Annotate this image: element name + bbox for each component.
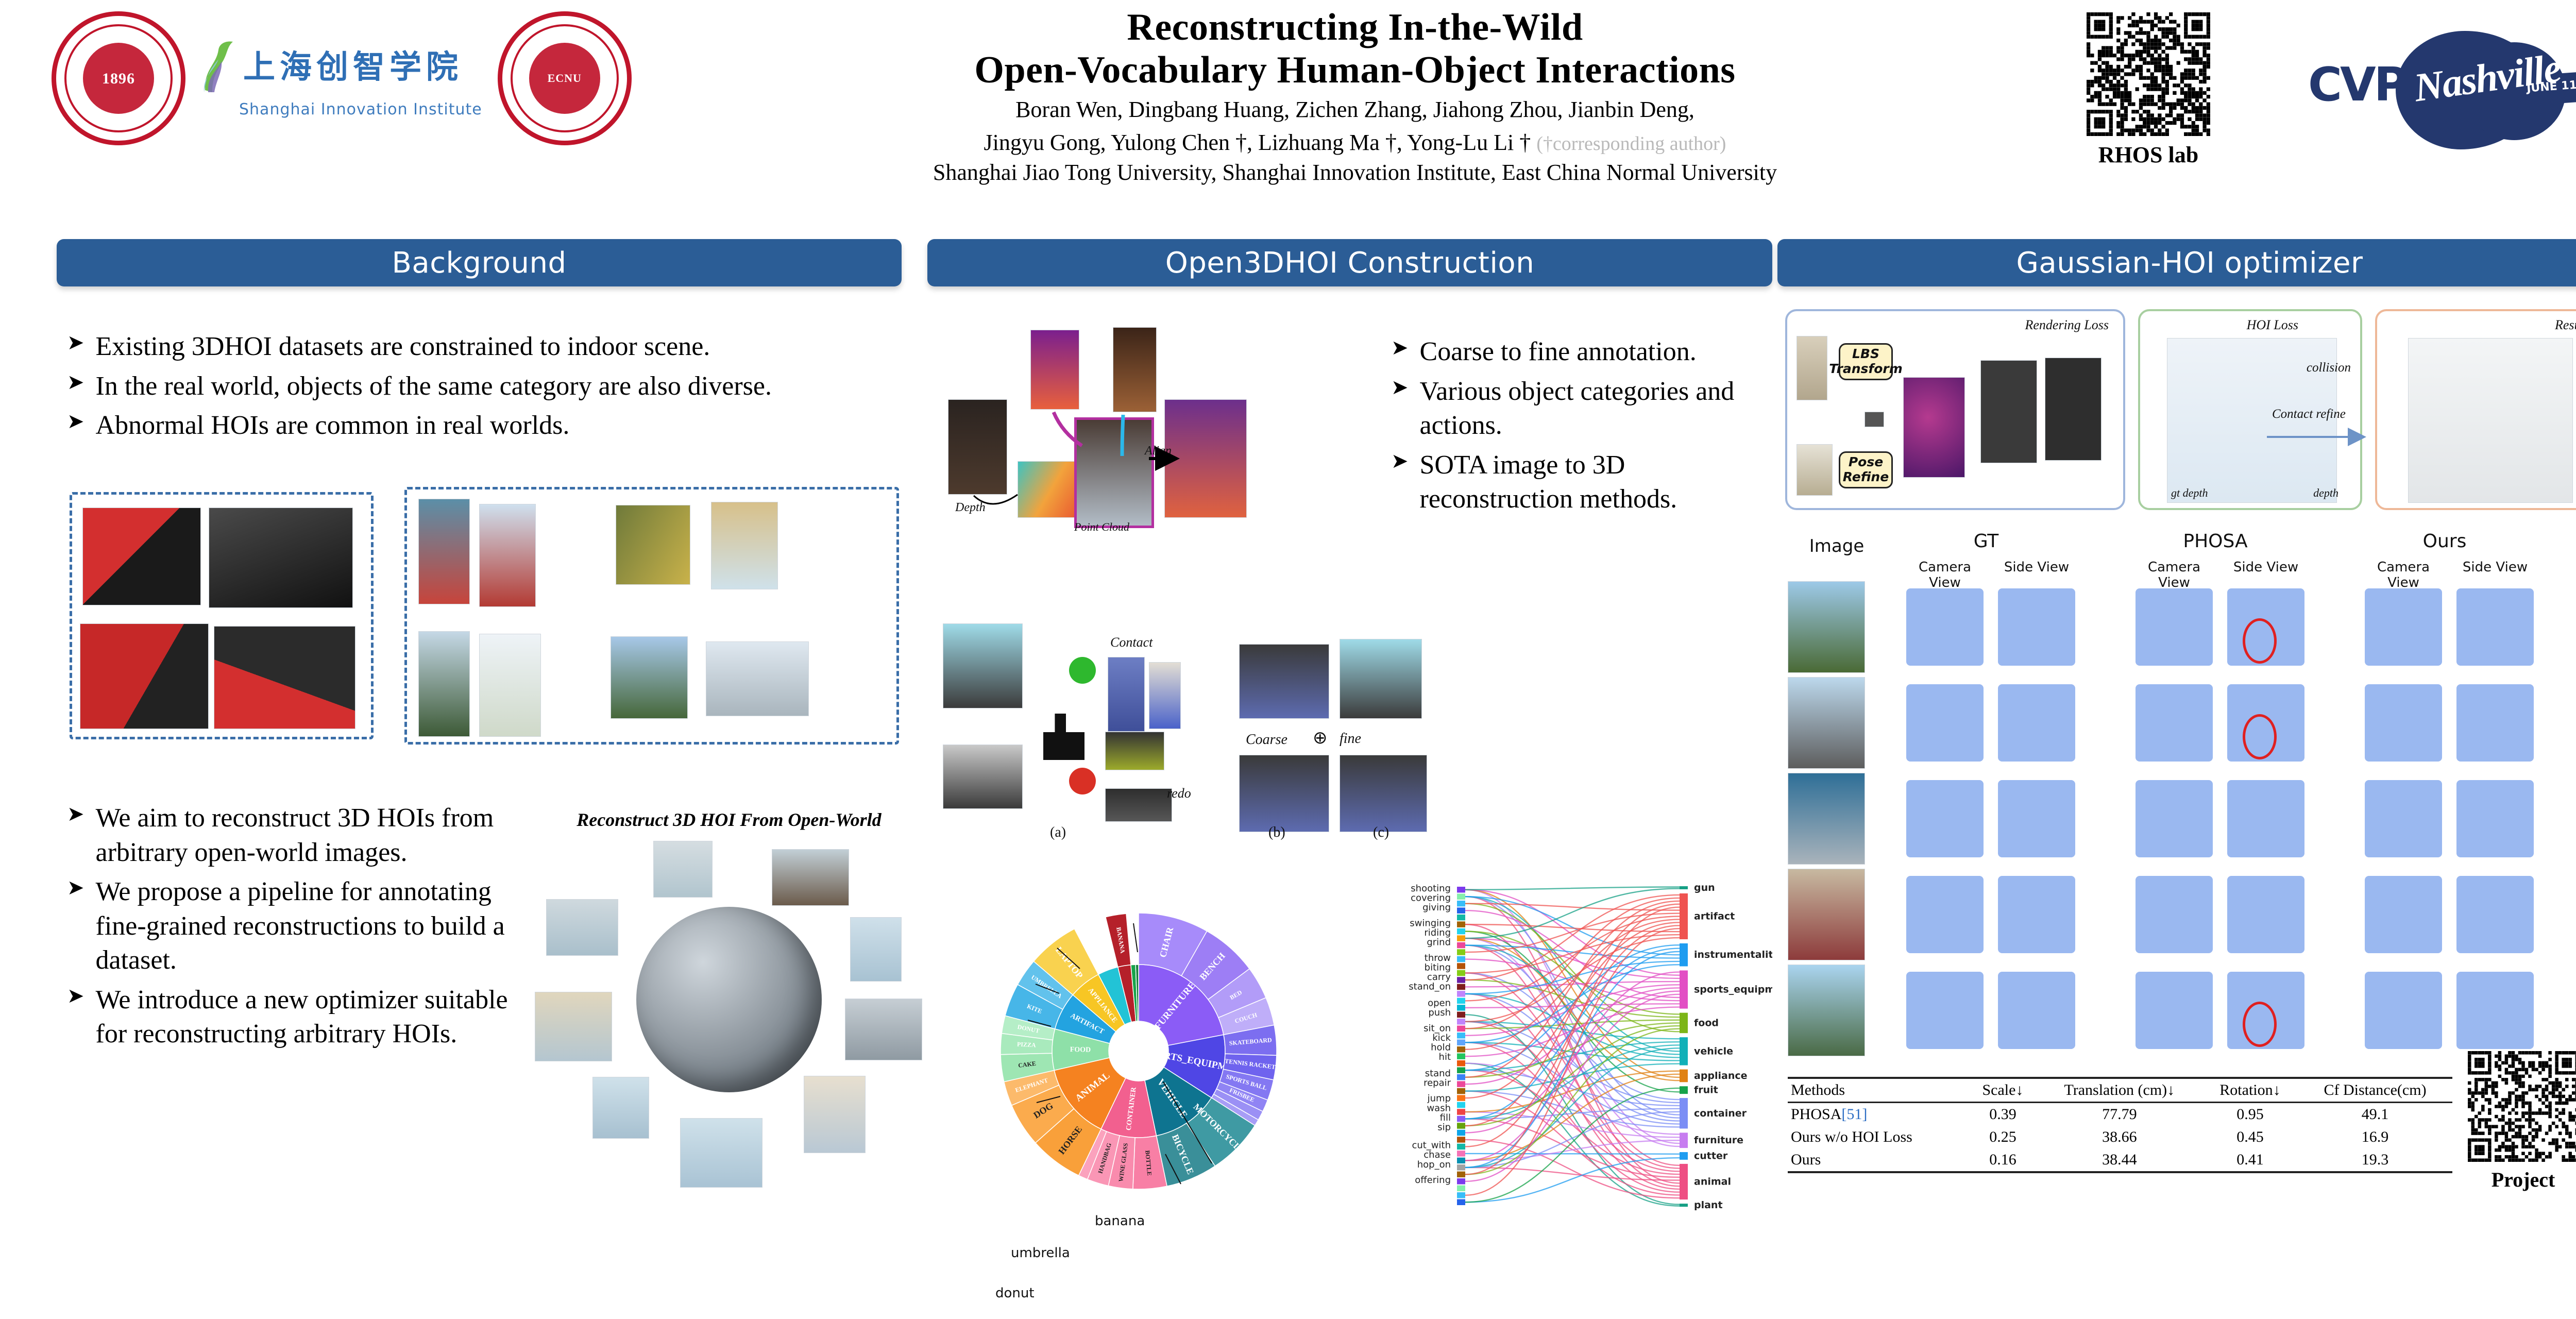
sankey-left-node: [1457, 1019, 1465, 1024]
cell-method: Ours: [1788, 1148, 1969, 1172]
error-highlight-circle: [2243, 714, 2277, 759]
qualitative-mesh-render: [1998, 588, 2075, 666]
col-rotation: Rotation↓: [2202, 1078, 2298, 1103]
sankey-left-node: [1457, 1178, 1465, 1184]
result-panel: Result: [2375, 309, 2576, 510]
cell-rotation: 0.41: [2202, 1148, 2298, 1172]
sankey-left-node: [1457, 1067, 1465, 1073]
section-header-background-label: Background: [392, 246, 566, 280]
globe-figure-caption: Reconstruct 3D HOI From Open-World: [531, 809, 927, 831]
sankey-left-node: [1457, 907, 1465, 913]
sankey-left-node: [1457, 901, 1465, 906]
sankey-left-node: [1457, 956, 1465, 962]
affiliations: Shanghai Jiao Tong University, Shanghai …: [737, 158, 1973, 187]
table-row: PHOSA[51]0.3977.790.9549.1: [1788, 1103, 2452, 1126]
sii-english-name: Shanghai Innovation Institute: [239, 100, 482, 119]
table-row: Ours w/o HOI Loss0.2538.660.4516.9: [1788, 1126, 2452, 1148]
sankey-left-node: [1457, 921, 1465, 927]
motorcycle-image-1: [82, 508, 201, 605]
bullet-text: Coarse to fine annotation.: [1420, 335, 1697, 369]
result-title: Result: [2555, 317, 2576, 333]
sankey-left-node: [1457, 977, 1465, 983]
poster-title-line-2: Open-Vocabulary Human-Object Interaction…: [737, 49, 1973, 92]
cell-cf-distance: 16.9: [2298, 1126, 2452, 1148]
sankey-right-node: [1680, 943, 1688, 966]
sankey-right-label: vehicle: [1694, 1045, 1733, 1057]
list-item: ➤We propose a pipeline for annotating fi…: [67, 875, 520, 978]
sankey-left-node: [1457, 1074, 1465, 1080]
bullet-text: SOTA image to 3D reconstruction methods.: [1420, 448, 1762, 517]
annotation-input-image: [943, 623, 1023, 708]
poster-header: 1896 上海创智学院 Shanghai Innovation Institut…: [0, 0, 2576, 234]
sankey-link: [1465, 1140, 1680, 1160]
sankey-link: [1465, 924, 1680, 932]
results-table-element: Methods Scale↓ Translation (cm)↓ Rotatio…: [1788, 1077, 2452, 1173]
cell-scale: 0.25: [1969, 1126, 2037, 1148]
align-arrows: [943, 309, 1391, 541]
hoi-mesh-boxes: [804, 1076, 866, 1153]
qualitative-mesh-render: [2136, 588, 2213, 666]
qualitative-mesh-render: [1998, 876, 2075, 953]
qualitative-mesh-render: [2136, 972, 2213, 1049]
sankey-right-node: [1680, 1070, 1688, 1083]
qualitative-mesh-render: [1998, 684, 2075, 762]
motorcycle-image-4: [214, 626, 355, 729]
qual-subheader-gt-side: Side View: [1993, 560, 2080, 575]
bullet-text: Abnormal HOIs are common in real worlds.: [96, 409, 570, 443]
qualitative-input-image: [1788, 869, 1865, 960]
qualitative-mesh-render: [1906, 972, 1984, 1049]
template-human-mesh: [1797, 336, 1827, 400]
project-qr-code[interactable]: [2468, 1051, 2576, 1162]
col-cf-distance: Cf Distance(cm): [2298, 1078, 2452, 1103]
open3dhoi-bullet-list: ➤Coarse to fine annotation. ➤Various obj…: [1391, 335, 1762, 522]
authors-line-2-text: Jingyu Gong, Yulong Chen †, Lizhuang Ma …: [984, 130, 1531, 155]
section-header-gaussian: Gaussian-HOI optimizer: [1777, 239, 2576, 286]
sankey-right-label: food: [1694, 1017, 1719, 1028]
qualitative-mesh-render: [2365, 780, 2442, 857]
qualitative-mesh-render: [1998, 780, 2075, 857]
table-header-row: Methods Scale↓ Translation (cm)↓ Rotatio…: [1788, 1078, 2452, 1103]
col-scale: Scale↓: [1969, 1078, 2037, 1103]
sankey-right-label: fruit: [1694, 1085, 1718, 1096]
poster-title-line-1: Reconstructing In-the-Wild: [737, 6, 1973, 49]
sankey-left-node: [1457, 1158, 1465, 1163]
qual-subheader-ours-side: Side View: [2451, 560, 2539, 575]
qual-header-gt: GT: [1901, 531, 2071, 552]
hoi-mesh-rocking-chair: [535, 992, 612, 1061]
sankey-left-node: [1457, 935, 1465, 941]
bullet-arrow-icon: ➤: [1391, 335, 1409, 361]
hoi-mesh-couch: [772, 849, 849, 906]
sankey-left-label: stand_on: [1409, 981, 1451, 992]
object-scan-image: [943, 745, 1023, 809]
col-translation: Translation (cm)↓: [2037, 1078, 2202, 1103]
verb-object-sankey-chart: shootingcoveringgivingswingingridinggrin…: [1391, 876, 1772, 1216]
sankey-right-node: [1680, 886, 1688, 889]
qualitative-mesh-render: [2365, 876, 2442, 953]
sankey-left-node: [1457, 1060, 1465, 1066]
sankey-left-node: [1457, 1172, 1465, 1177]
title-block: Reconstructing In-the-Wild Open-Vocabula…: [737, 6, 1973, 187]
sunburst-callout-line: [1133, 923, 1138, 952]
authors-line-1: Boran Wen, Dingbang Huang, Zichen Zhang,…: [737, 95, 1973, 125]
list-item: ➤In the real world, objects of the same …: [67, 369, 891, 404]
sunburst-callout-label: donut: [995, 1286, 1035, 1301]
sankey-right-label: container: [1694, 1108, 1747, 1119]
sankey-left-node: [1457, 928, 1465, 934]
gt-depth-label: gt depth: [2171, 486, 2208, 500]
sankey-right-label: gun: [1694, 882, 1715, 893]
cell-scale: 0.39: [1969, 1103, 2037, 1126]
project-qr-block[interactable]: Project: [2468, 1051, 2576, 1192]
annotation-pipeline-figure: Contact redo Coarse ⊕ fine (a) (b) (c): [933, 577, 1777, 845]
cell-method: PHOSA[51]: [1788, 1103, 1969, 1126]
qualitative-input-image: [1788, 773, 1865, 865]
qualitative-mesh-render: [1906, 876, 1984, 953]
cell-cf-distance: 49.1: [2298, 1103, 2452, 1126]
sankey-left-node: [1457, 1151, 1465, 1156]
lbs-transform-label: LBS Transform: [1829, 347, 1903, 377]
sankey-left-node: [1457, 1053, 1465, 1059]
pose-refine-box: Pose Refine: [1839, 451, 1893, 488]
section-header-gaussian-label: Gaussian-HOI optimizer: [2016, 246, 2363, 280]
object-contact-mesh: [1105, 732, 1164, 770]
qualitative-mesh-render: [2456, 876, 2534, 953]
globe-figure: Reconstruct 3D HOI From Open-World: [531, 809, 927, 1211]
rendered-rgb-image: [2045, 358, 2102, 461]
sii-chinese-name: 上海创智学院: [243, 51, 463, 83]
bullet-arrow-icon: ➤: [67, 875, 84, 901]
sankey-left-label: grind: [1427, 937, 1451, 948]
sankey-left-node: [1457, 991, 1465, 996]
sankey-svg: shootingcoveringgivingswingingridinggrin…: [1391, 876, 1772, 1216]
cell-rotation: 0.95: [2202, 1103, 2298, 1126]
coarse-hoi-mesh-bottom: [1239, 755, 1329, 832]
logo-row: 1896 上海创智学院 Shanghai Innovation Institut…: [52, 11, 632, 145]
hoi-mesh-cup: [592, 1077, 649, 1139]
sankey-left-node: [1457, 942, 1465, 948]
abnormal-hoi-image-1: [418, 499, 470, 604]
qualitative-results-grid: [1788, 581, 2576, 1060]
rendering-loss-title: Rendering Loss: [2025, 317, 2109, 333]
qual-header-phosa: PHOSA: [2130, 531, 2300, 552]
cell-translation: 38.44: [2037, 1148, 2202, 1172]
sunburst-callout-label: banana: [1095, 1213, 1145, 1229]
accept-check-icon: [1069, 657, 1096, 684]
bullet-text: Various object categories and actions.: [1420, 375, 1762, 443]
col-methods: Methods: [1788, 1078, 1969, 1103]
sankey-left-node: [1457, 1164, 1465, 1170]
sankey-left-node: [1457, 984, 1465, 990]
sankey-left-node: [1457, 1123, 1465, 1128]
sankey-right-node: [1680, 1164, 1688, 1199]
rhos-lab-qr-label: RHOS lab: [2087, 142, 2210, 168]
qualitative-mesh-render: [2136, 684, 2213, 762]
sankey-left-node: [1457, 1144, 1465, 1149]
qualitative-mesh-render: [2136, 876, 2213, 953]
sankey-left-node: [1457, 1186, 1465, 1191]
rendered-depth-image: [1980, 360, 2037, 463]
sankey-right-label: animal: [1694, 1176, 1731, 1188]
contact-label: Contact: [1110, 635, 1153, 650]
sankey-link: [1465, 887, 1680, 890]
fine-input-image: [1340, 639, 1422, 719]
lbs-transform-box: LBS Transform: [1839, 343, 1893, 380]
section-header-open3dhoi-label: Open3DHOI Construction: [1165, 246, 1534, 280]
cvpr-logo: CVPR Nashville JUNE 11-15, 2025: [2308, 31, 2576, 149]
sankey-left-node: [1457, 1102, 1465, 1108]
qualitative-mesh-render: [2456, 588, 2534, 666]
cell-translation: 38.66: [2037, 1126, 2202, 1148]
contact-human-mesh: [1108, 657, 1145, 732]
cell-method: Ours w/o HOI Loss: [1788, 1126, 1969, 1148]
qualitative-mesh-render: [2456, 780, 2534, 857]
sankey-left-label: sip: [1437, 1122, 1451, 1132]
contact-refine-arrow: [2267, 428, 2370, 448]
hoi-mesh-dog: [653, 841, 713, 898]
error-highlight-circle: [2243, 618, 2277, 664]
results-table-head: Methods Scale↓ Translation (cm)↓ Rotatio…: [1788, 1078, 2452, 1103]
sankey-left-node: [1457, 1040, 1465, 1045]
sankey-right-node: [1680, 1098, 1688, 1128]
bullet-arrow-icon: ➤: [67, 409, 84, 434]
sankey-left-label: offering: [1415, 1175, 1451, 1186]
abnormal-hoi-image-2: [616, 505, 690, 585]
sankey-right-label: plant: [1694, 1199, 1723, 1211]
sjtu-logo: 1896: [52, 11, 185, 145]
motorcycle-image-3: [80, 623, 209, 729]
sankey-left-node: [1457, 963, 1465, 969]
section-header-background: Background: [57, 239, 902, 286]
result-render: [2408, 338, 2573, 503]
quantitative-results-table: Methods Scale↓ Translation (cm)↓ Rotatio…: [1788, 1077, 2452, 1173]
subfigure-label-c: (c): [1373, 824, 1389, 841]
abnormal-hoi-panel: [404, 487, 899, 745]
object-redo-mesh: [1105, 788, 1172, 822]
sankey-left-node: [1457, 1130, 1465, 1136]
shanghai-innovation-institute-logo: 上海创智学院 Shanghai Innovation Institute: [201, 39, 482, 119]
contact-refine-label: Contact refine: [2272, 407, 2346, 421]
abnormal-hoi-mesh-3: [479, 634, 541, 737]
authors-line-2: Jingyu Gong, Yulong Chen †, Lizhuang Ma …: [737, 128, 1973, 158]
bullet-arrow-icon: ➤: [67, 330, 84, 356]
contact-map-mesh: [1149, 662, 1181, 729]
sankey-left-label: repair: [1423, 1077, 1451, 1088]
qualitative-mesh-render: [2227, 780, 2304, 857]
qual-header-ours: Ours: [2360, 531, 2530, 552]
sankey-link: [1465, 1140, 1680, 1198]
bullet-arrow-icon: ➤: [67, 801, 84, 827]
bullet-arrow-icon: ➤: [67, 983, 84, 1009]
sankey-left-node: [1457, 893, 1465, 899]
sankey-left-node: [1457, 1199, 1465, 1205]
bullet-arrow-icon: ➤: [1391, 375, 1409, 400]
template-sheep-mesh: [1797, 444, 1833, 496]
sankey-right-label: cutter: [1694, 1150, 1728, 1161]
align-pipeline-figure: Depth Point Cloud Align: [943, 309, 1391, 541]
sankey-left-label: hop_on: [1417, 1159, 1451, 1170]
ecnu-logo-text: ECNU: [502, 16, 627, 141]
list-item: ➤Abnormal HOIs are common in real worlds…: [67, 409, 891, 443]
bullet-arrow-icon: ➤: [1391, 448, 1409, 474]
hoi-mesh-tennis: [680, 1118, 762, 1188]
camera-icon: [1865, 412, 1884, 427]
qualitative-mesh-render: [1906, 780, 1984, 857]
sankey-left-node: [1457, 1081, 1465, 1087]
hoi-mesh-bench: [845, 999, 922, 1060]
reject-cross-icon: [1069, 768, 1096, 794]
sankey-right-label: sports_equipment: [1694, 984, 1772, 995]
cell-cf-distance: 19.3: [2298, 1148, 2452, 1172]
qualitative-mesh-render: [1998, 972, 2075, 1049]
fine-hoi-mesh: [1340, 755, 1427, 832]
sankey-link: [1465, 1154, 1680, 1154]
list-item: ➤Coarse to fine annotation.: [1391, 335, 1762, 369]
sankey-right-node: [1680, 970, 1688, 1008]
sunburst-outer-label: PIZZA: [1017, 1041, 1037, 1049]
motorcycle-image-2: [209, 508, 353, 608]
qualitative-mesh-render: [2365, 588, 2442, 666]
sunburst-inner-label: FOOD: [1070, 1046, 1091, 1054]
qual-header-image: Image: [1788, 536, 1886, 556]
bullet-text: We aim to reconstruct 3D HOIs from arbit…: [96, 801, 520, 870]
sankey-left-node: [1457, 1046, 1465, 1052]
coarse-label: Coarse: [1246, 732, 1287, 748]
sankey-left-node: [1457, 1088, 1465, 1094]
sankey-right-node: [1680, 1152, 1688, 1160]
qualitative-mesh-render: [2365, 684, 2442, 762]
abnormal-hoi-mesh-4: [706, 641, 809, 716]
background-bullet-list: ➤Existing 3DHOI datasets are constrained…: [67, 330, 891, 448]
sankey-right-label: appliance: [1694, 1070, 1748, 1081]
coarse-hoi-mesh-top: [1239, 644, 1329, 719]
abnormal-hoi-mesh-1: [479, 504, 536, 607]
table-row: Ours0.1638.440.4119.3: [1788, 1148, 2452, 1172]
gaussian-point-cloud: [1903, 377, 1965, 478]
sankey-link: [1465, 1074, 1680, 1161]
sankey-right-label: artifact: [1694, 910, 1735, 922]
sankey-right-label: instrumentality: [1694, 949, 1772, 960]
project-qr-label: Project: [2468, 1168, 2576, 1192]
sankey-left-node: [1457, 970, 1465, 976]
abnormal-hoi-image-4: [611, 636, 688, 719]
list-item: ➤We introduce a new optimizer suitable f…: [67, 983, 520, 1052]
sankey-left-node: [1457, 1109, 1465, 1114]
rhos-lab-qr-code[interactable]: [2087, 12, 2210, 136]
cell-translation: 77.79: [2037, 1103, 2202, 1126]
abnormal-hoi-image-3: [418, 631, 470, 737]
cell-rotation: 0.45: [2202, 1126, 2298, 1148]
corresponding-author-note: (†corresponding author): [1536, 133, 1726, 155]
qualitative-input-image: [1788, 965, 1865, 1056]
sankey-right-label: furniture: [1694, 1135, 1743, 1146]
sankey-left-node: [1457, 1026, 1465, 1031]
hoi-loss-title: HOI Loss: [2247, 317, 2298, 333]
sankey-left-node: [1457, 1012, 1465, 1018]
rendering-loss-panel: Rendering Loss LBS Transform Pose Refine: [1785, 309, 2125, 510]
cell-scale: 0.16: [1969, 1148, 2037, 1172]
sankey-left-label: giving: [1422, 902, 1451, 913]
qualitative-mesh-render: [2365, 972, 2442, 1049]
sankey-right-node: [1680, 1132, 1688, 1148]
sankey-right-node: [1680, 893, 1688, 939]
hoi-mesh-horse-rider: [546, 899, 618, 956]
sii-mark-icon: [201, 39, 235, 95]
sankey-left-node: [1457, 1192, 1465, 1198]
bullet-arrow-icon: ➤: [67, 369, 84, 395]
qualitative-mesh-render: [2456, 972, 2534, 1049]
sankey-left-node: [1457, 1005, 1465, 1010]
sunburst-callout-label: umbrella: [1011, 1245, 1070, 1261]
annotator-icon: [1043, 714, 1084, 760]
bullet-text: In the real world, objects of the same c…: [96, 369, 772, 404]
object-diversity-panel: [70, 492, 374, 739]
sankey-left-node: [1457, 998, 1465, 1004]
sunburst-svg: FURNITURESPORTS_EQUIPMENTVEHICLECONTAINE…: [979, 897, 1298, 1206]
citation-link[interactable]: [51]: [1841, 1106, 1867, 1123]
qualitative-input-image: [1788, 677, 1865, 769]
pose-refine-label: Pose Refine: [1843, 455, 1889, 485]
sankey-left-label: hit: [1439, 1052, 1451, 1062]
collision-label: collision: [2307, 361, 2351, 375]
sankey-left-node: [1457, 915, 1465, 920]
bullet-text: Existing 3DHOI datasets are constrained …: [96, 330, 710, 364]
abnormal-hoi-mesh-2: [711, 502, 778, 589]
bullet-text: We introduce a new optimizer suitable fo…: [96, 983, 520, 1052]
list-item: ➤Existing 3DHOI datasets are constrained…: [67, 330, 891, 364]
fine-label: fine: [1340, 731, 1361, 747]
sankey-right-node: [1680, 1204, 1688, 1207]
section-header-open3dhoi: Open3DHOI Construction: [927, 239, 1772, 286]
bullet-text: We propose a pipeline for annotating fin…: [96, 875, 520, 978]
qualitative-mesh-render: [2227, 876, 2304, 953]
qualitative-mesh-render: [1906, 684, 1984, 762]
object-category-sunburst-chart: FURNITURESPORTS_EQUIPMENTVEHICLECONTAINE…: [979, 897, 1298, 1206]
sankey-right-node: [1680, 1086, 1688, 1094]
qualitative-mesh-render: [2456, 684, 2534, 762]
sankey-left-node: [1457, 1095, 1465, 1101]
sankey-left-node: [1457, 949, 1465, 955]
qualitative-input-image: [1788, 581, 1865, 673]
hoi-mesh-frisbee: [850, 917, 902, 982]
rhos-lab-qr-block[interactable]: RHOS lab: [2087, 12, 2210, 168]
sankey-left-node: [1457, 1137, 1465, 1142]
results-table-body: PHOSA[51]0.3977.790.9549.1Ours w/o HOI L…: [1788, 1103, 2452, 1173]
qualitative-mesh-render: [2136, 780, 2213, 857]
subfigure-label-b: (b): [1268, 824, 1285, 841]
list-item: ➤We aim to reconstruct 3D HOIs from arbi…: [67, 801, 520, 870]
redo-label: redo: [1167, 786, 1191, 801]
plus-icon: ⊕: [1313, 728, 1328, 748]
globe-sphere: [636, 907, 822, 1092]
sankey-right-node: [1680, 1013, 1688, 1034]
sankey-left-label: push: [1428, 1007, 1451, 1018]
depth-label-hoi: depth: [2313, 486, 2338, 500]
sankey-left-node: [1457, 1116, 1465, 1122]
sankey-left-node: [1457, 887, 1465, 892]
qualitative-mesh-render: [1906, 588, 1984, 666]
ecnu-logo: ECNU: [498, 11, 632, 145]
sankey-left-node: [1457, 1033, 1465, 1038]
contributions-bullet-list: ➤We aim to reconstruct 3D HOIs from arbi…: [67, 801, 520, 1057]
error-highlight-circle: [2243, 1002, 2277, 1047]
subfigure-label-a: (a): [1050, 824, 1066, 841]
sankey-right-node: [1680, 1037, 1688, 1065]
sjtu-logo-text: 1896: [56, 16, 181, 141]
list-item: ➤SOTA image to 3D reconstruction methods…: [1391, 448, 1762, 517]
list-item: ➤Various object categories and actions.: [1391, 375, 1762, 443]
